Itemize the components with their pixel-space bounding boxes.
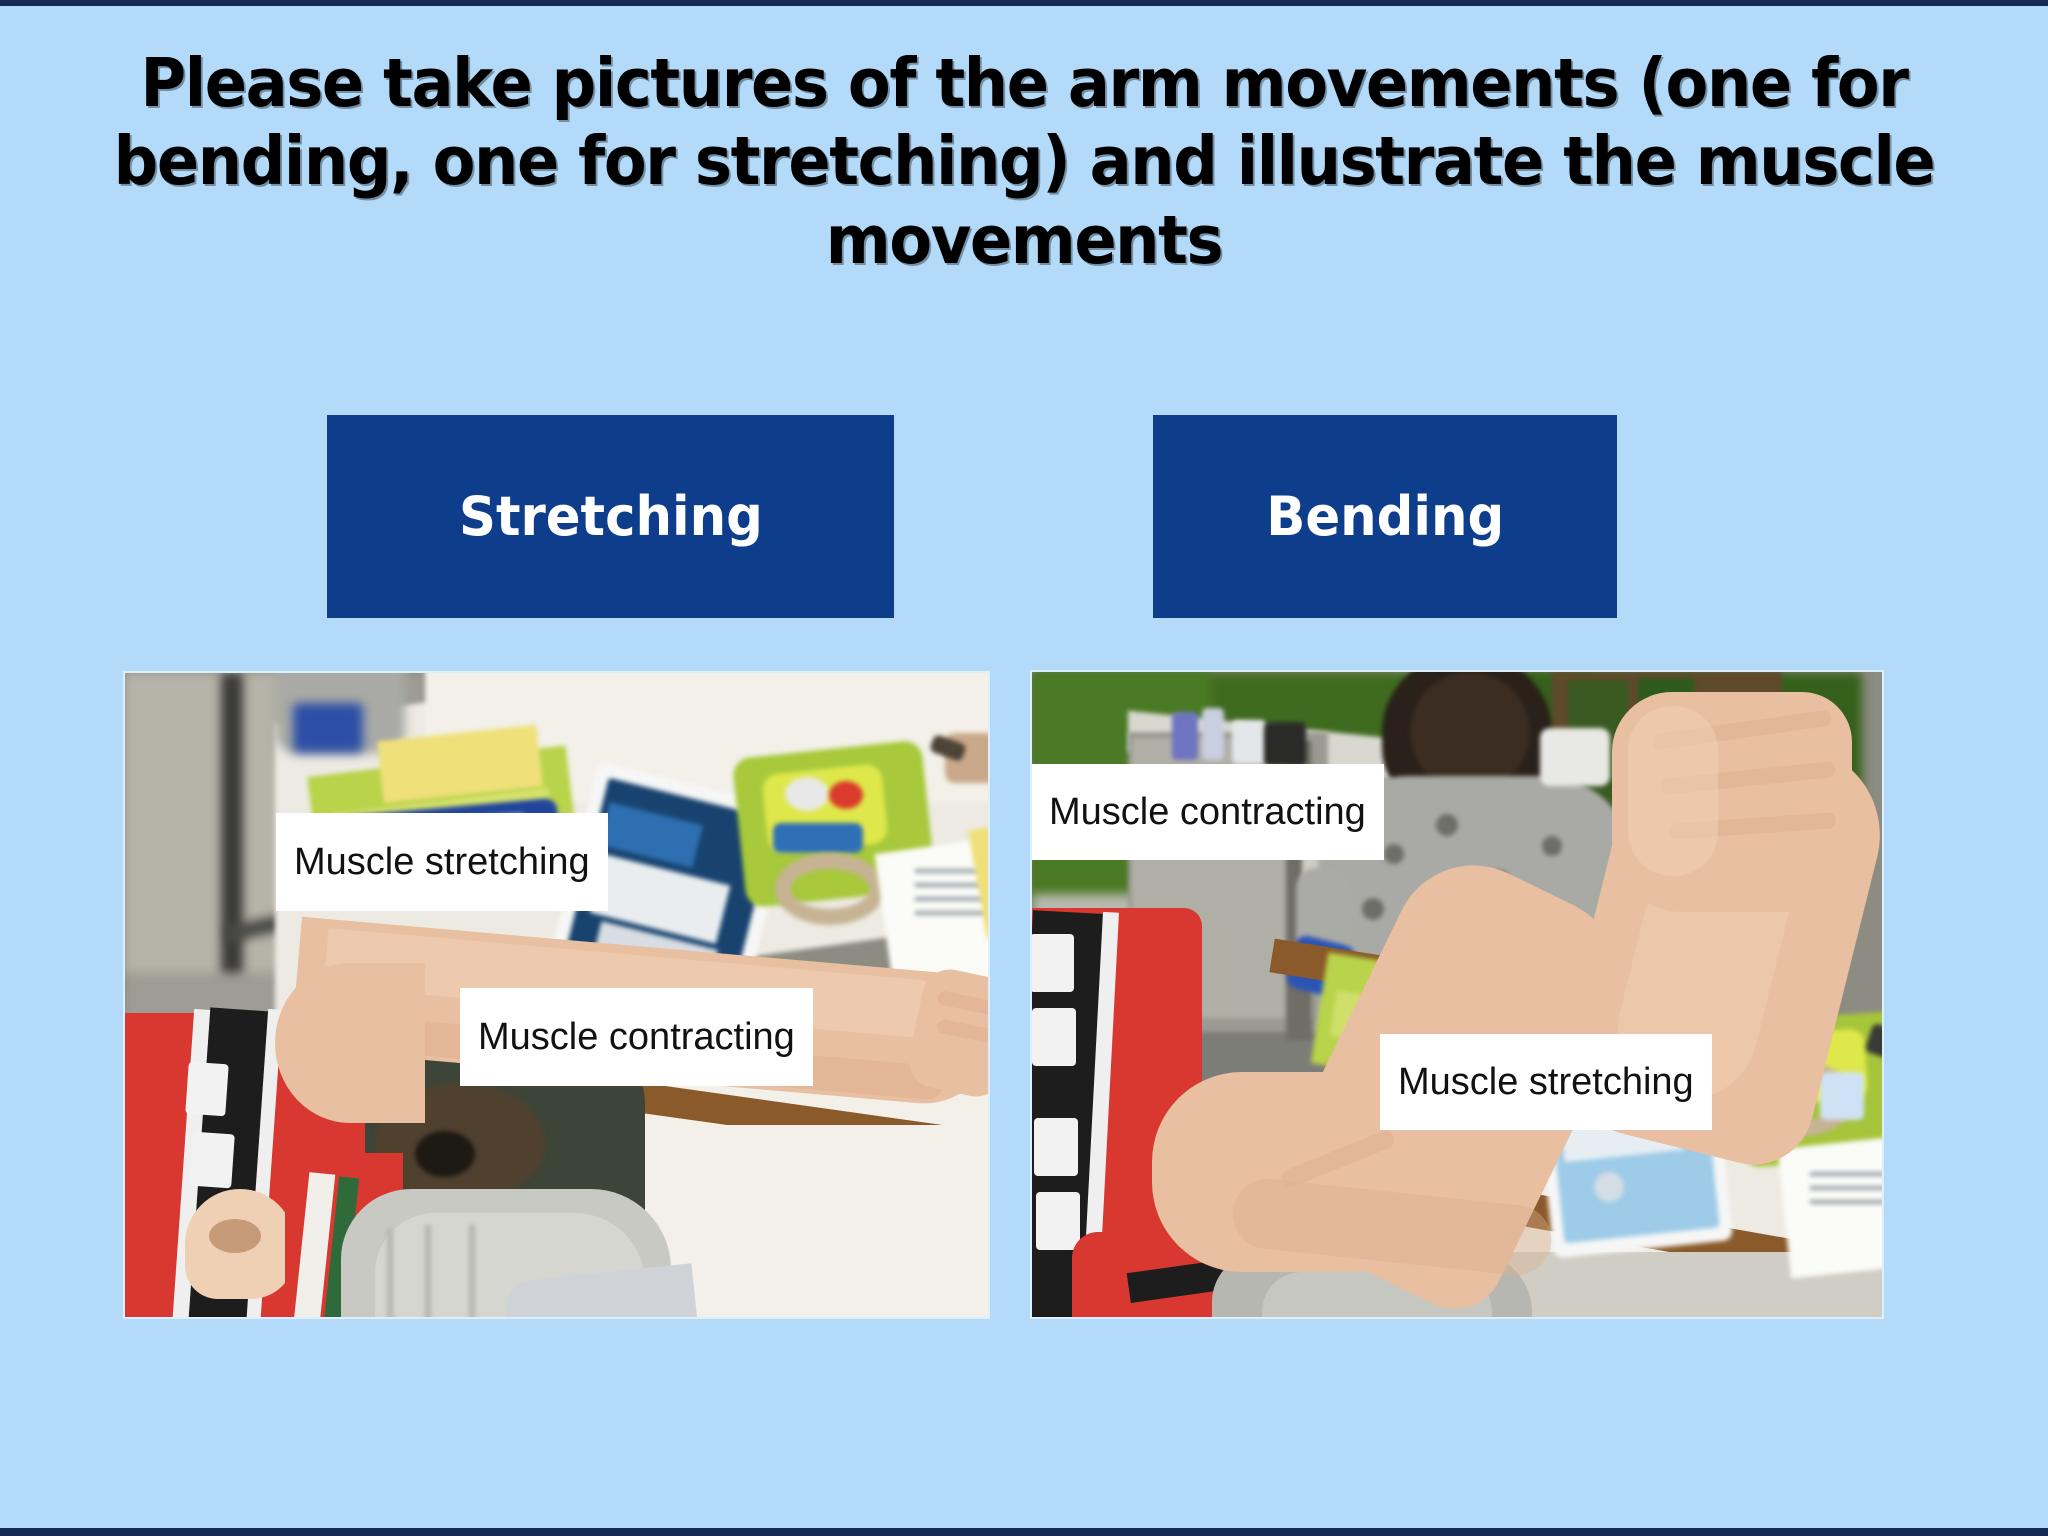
section-banner-stretching-label: Stretching: [459, 485, 763, 548]
stretching-photo-scene: Muscle stretching Muscle contracting: [125, 673, 988, 1317]
bending-photo: Muscle contracting Muscle stretching: [1032, 672, 1882, 1317]
callout-label: Muscle contracting: [1049, 793, 1366, 831]
bottom-edge-strip: [0, 1528, 2048, 1536]
top-edge-strip: [0, 0, 2048, 6]
callout-muscle-stretching: Muscle stretching: [276, 813, 608, 911]
callout-muscle-contracting: Muscle contracting: [1032, 764, 1384, 860]
callout-label: Muscle contracting: [478, 1018, 795, 1056]
page-title: Please take pictures of the arm movement…: [72, 44, 1977, 279]
section-banner-bending: Bending: [1153, 415, 1617, 618]
callout-label: Muscle stretching: [1398, 1063, 1694, 1101]
callout-muscle-stretching: Muscle stretching: [1380, 1034, 1712, 1130]
section-banner-bending-label: Bending: [1266, 485, 1504, 548]
callout-muscle-contracting: Muscle contracting: [460, 988, 813, 1086]
section-banner-stretching: Stretching: [327, 415, 894, 618]
stretching-photo: Muscle stretching Muscle contracting: [125, 673, 988, 1317]
callout-label: Muscle stretching: [294, 843, 590, 881]
bending-photo-scene: Muscle contracting Muscle stretching: [1032, 672, 1882, 1317]
